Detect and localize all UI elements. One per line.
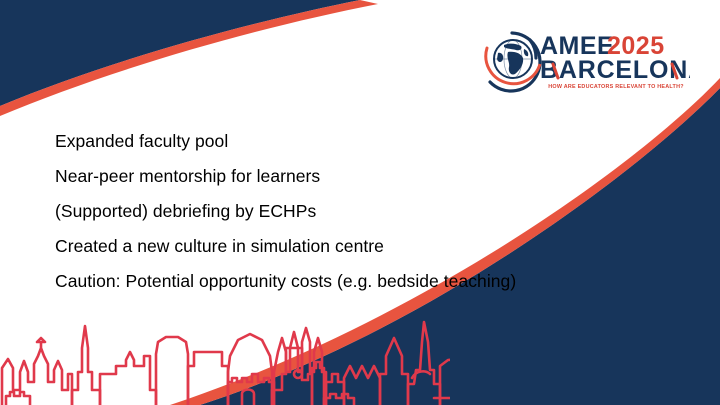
- slide-canvas: AMEE 2025 BARCELONA HOW ARE EDUCATORS RE…: [0, 0, 720, 405]
- body-line: Expanded faculty pool: [55, 124, 655, 159]
- body-text-block: Expanded faculty pool Near-peer mentorsh…: [55, 124, 655, 299]
- body-line: Created a new culture in simulation cent…: [55, 229, 655, 264]
- body-line: Caution: Potential opportunity costs (e.…: [55, 264, 655, 299]
- amee-logo: AMEE 2025 BARCELONA HOW ARE EDUCATORS RE…: [478, 26, 690, 102]
- barcelona-skyline-icon: [0, 312, 450, 405]
- top-left-navy-swoosh: [0, 0, 360, 106]
- globe-icon: [478, 28, 546, 96]
- logo-tagline: HOW ARE EDUCATORS RELEVANT TO HEALTH?: [542, 84, 690, 90]
- logo-city-text: BARCELONA: [540, 56, 690, 84]
- body-line: Near-peer mentorship for learners: [55, 159, 655, 194]
- logo-wordmark: AMEE 2025 BARCELONA: [540, 26, 690, 102]
- body-line: (Supported) debriefing by ECHPs: [55, 194, 655, 229]
- top-left-coral-swoosh: [0, 0, 378, 116]
